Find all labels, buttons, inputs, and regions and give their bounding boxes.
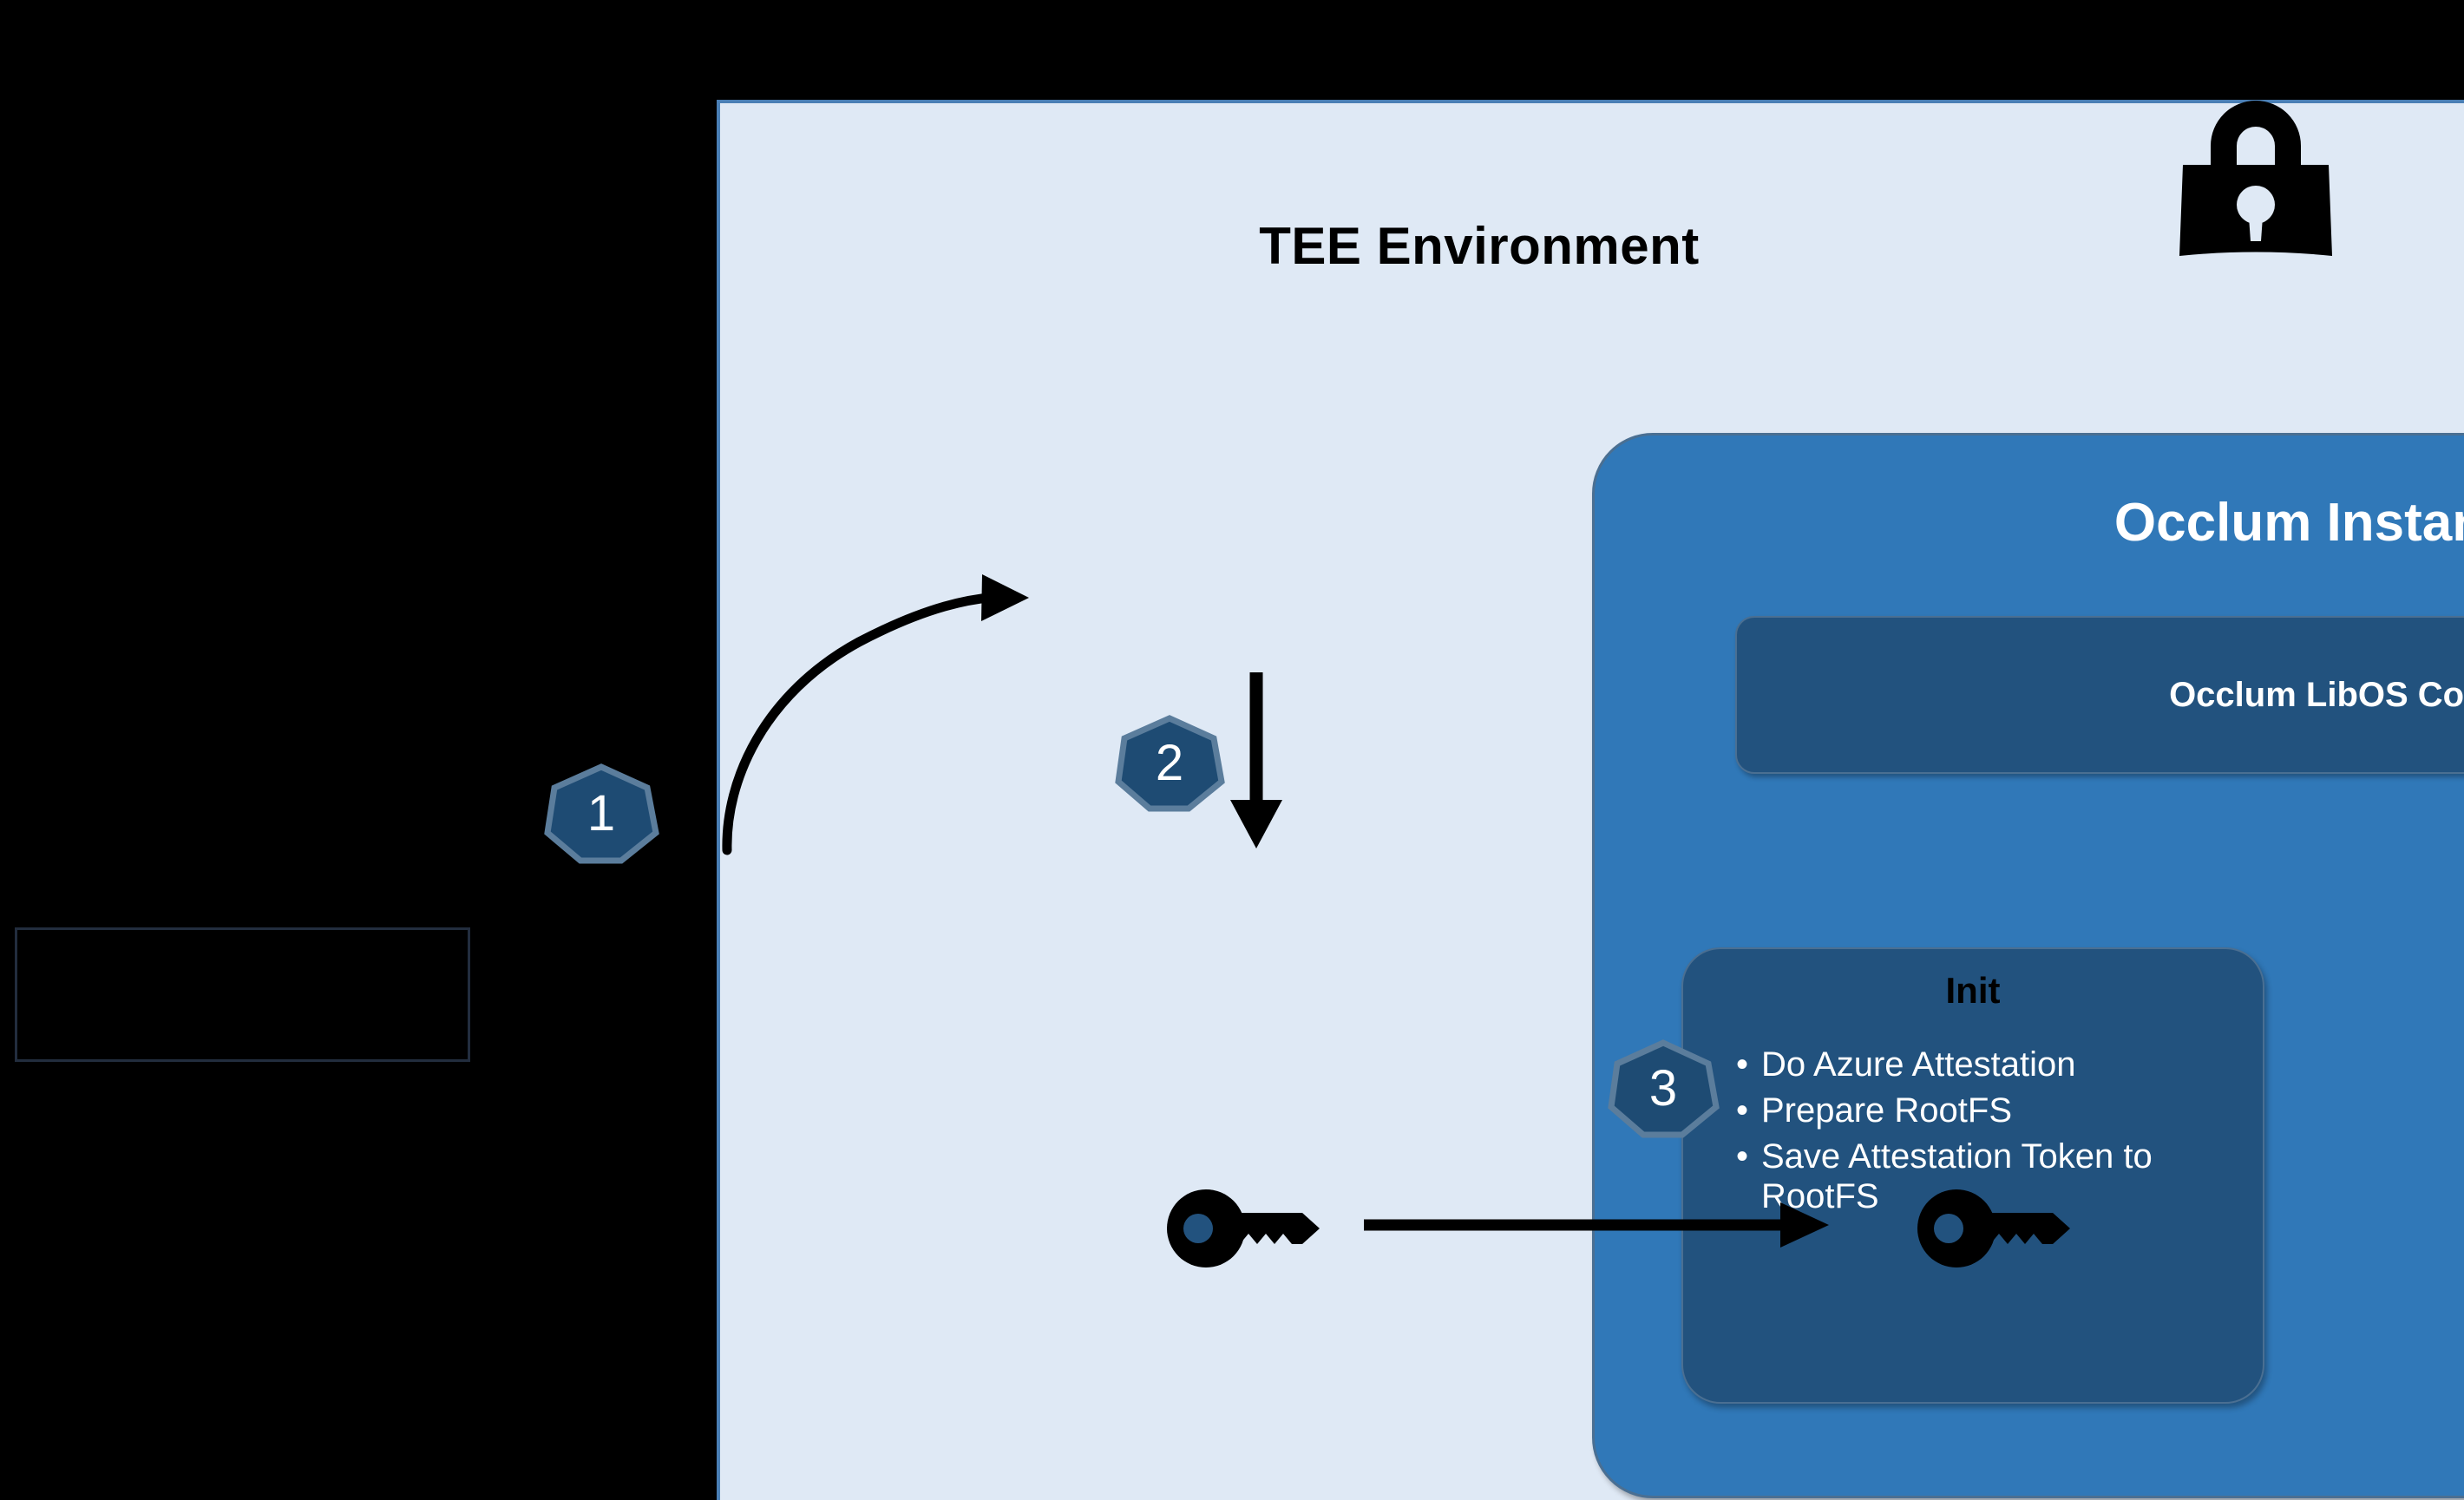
diagram-canvas: TEE Environment Occlum Instance Occlum L… xyxy=(0,0,2464,1500)
list-item: • Do Azure Attestation xyxy=(1723,1045,2242,1085)
bullet-dot-icon: • xyxy=(1723,1136,1761,1218)
occlum-instance-title: Occlum Instance xyxy=(1595,492,2464,553)
tee-environment-title: TEE Environment xyxy=(720,216,2238,276)
list-item: • Prepare RootFS xyxy=(1723,1091,2242,1131)
step-badge-1: 1 xyxy=(543,763,659,864)
step-badge-2-number: 2 xyxy=(1156,738,1183,789)
step-badge-3-number: 3 xyxy=(1649,1064,1677,1114)
step-badge-3: 3 xyxy=(1607,1039,1720,1138)
step-badge-2: 2 xyxy=(1114,715,1225,812)
bullet-dot-icon: • xyxy=(1723,1091,1761,1131)
padlock-icon xyxy=(2160,95,2351,260)
occlum-instance-box: Occlum Instance Occlum LibOS Core Init •… xyxy=(1592,433,2464,1498)
init-bullet-1: Prepare RootFS xyxy=(1761,1091,2242,1131)
occlum-libos-core-title: Occlum LibOS Core xyxy=(2169,676,2464,715)
init-title: Init xyxy=(1683,970,2263,1012)
key-icon xyxy=(1917,1187,2082,1270)
key-icon xyxy=(1167,1187,1332,1270)
left-outlined-box xyxy=(15,927,470,1062)
occlum-libos-core-box: Occlum LibOS Core xyxy=(1735,616,2464,774)
init-card: Init • Do Azure Attestation • Prepare Ro… xyxy=(1681,947,2264,1404)
tee-environment-panel: TEE Environment Occlum Instance Occlum L… xyxy=(717,100,2464,1500)
step-badge-1-number: 1 xyxy=(587,789,615,839)
init-bullet-0: Do Azure Attestation xyxy=(1761,1045,2242,1085)
bullet-dot-icon: • xyxy=(1723,1045,1761,1085)
